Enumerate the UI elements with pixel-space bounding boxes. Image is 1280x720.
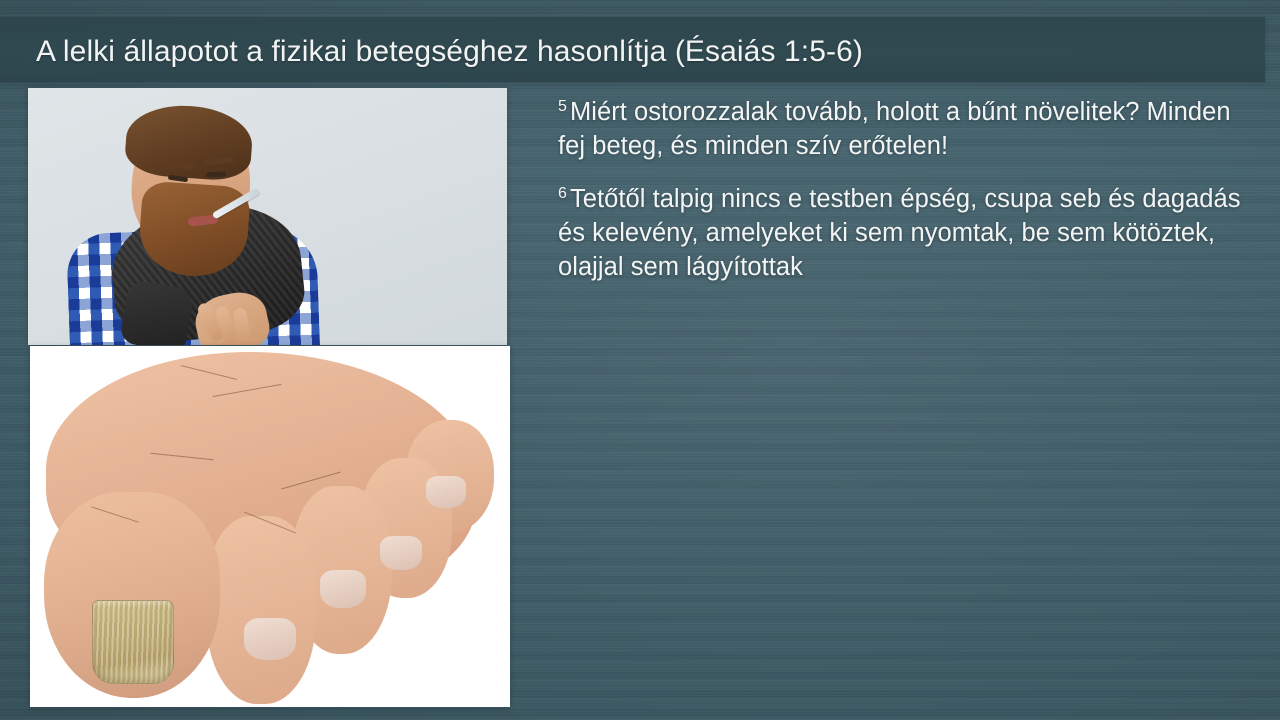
verse-5: 5Miért ostorozzalak tovább, holott a bűn…	[558, 96, 1258, 163]
toenail-third	[320, 570, 366, 608]
sick-man-photo	[28, 88, 507, 345]
verse-text: Miért ostorozzalak tovább, holott a bűnt…	[558, 98, 1231, 160]
toenail-big-diseased	[92, 600, 174, 684]
verse-6: 6Tetőtől talpig nincs e testben épség, c…	[558, 183, 1258, 284]
verse-number: 6	[558, 185, 570, 202]
verse-text: Tetőtől talpig nincs e testben épség, cs…	[558, 185, 1241, 280]
toenail-second	[244, 618, 296, 660]
verse-block: 5Miért ostorozzalak tovább, holott a bűn…	[558, 96, 1258, 284]
toenail-little	[426, 476, 466, 508]
page-title: A lelki állapotot a fizikai betegséghez …	[36, 35, 863, 69]
toenail-fourth	[380, 536, 422, 570]
slide: A lelki állapotot a fizikai betegséghez …	[0, 0, 1280, 720]
verse-number: 5	[558, 98, 570, 115]
title-bar: A lelki állapotot a fizikai betegséghez …	[0, 17, 1265, 82]
diseased-toenail-photo	[30, 346, 510, 707]
toe-second	[206, 516, 316, 704]
